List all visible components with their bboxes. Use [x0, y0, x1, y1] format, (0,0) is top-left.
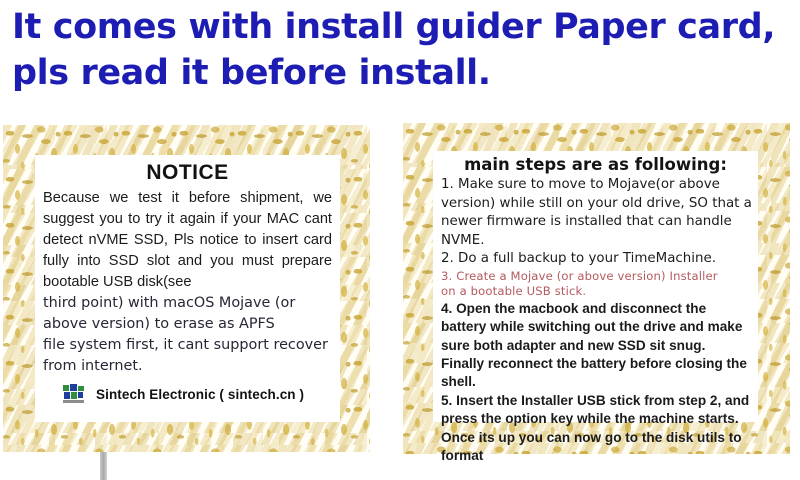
step-item-4: 4. Open the macbook and disconnect the b… — [433, 300, 758, 392]
notice-card: NOTICE Because we test it before shipmen… — [3, 125, 370, 452]
page-headline: It comes with install guider Paper card,… — [12, 4, 792, 96]
notice-title: NOTICE — [35, 161, 340, 185]
notice-body-primary: Because we test it before shipment, we s… — [35, 188, 340, 293]
sintech-pc-logo-icon — [61, 383, 87, 405]
step-item-5: 5. Insert the Installer USB stick from s… — [433, 392, 758, 466]
notice-body-secondary: third point) with macOS Mojave (or above… — [35, 293, 340, 377]
notice-card-inner: NOTICE Because we test it before shipmen… — [35, 155, 340, 422]
steps-card: main steps are as following: 1. Make sur… — [403, 123, 790, 454]
page-edge-artifact — [100, 452, 107, 480]
brand-row: Sintech Electronic ( sintech.cn ) — [35, 377, 340, 405]
brand-name: Sintech Electronic ( sintech.cn ) — [96, 387, 304, 402]
step-item-1: 1. Make sure to move to Mojave(or above … — [433, 176, 758, 250]
step-item-2: 2. Do a full backup to your TimeMachine. — [433, 250, 758, 269]
steps-title: main steps are as following: — [433, 155, 758, 174]
steps-card-inner: main steps are as following: 1. Make sur… — [433, 151, 758, 422]
step-item-3-highlighted: 3. Create a Mojave (or above version) In… — [433, 269, 758, 300]
